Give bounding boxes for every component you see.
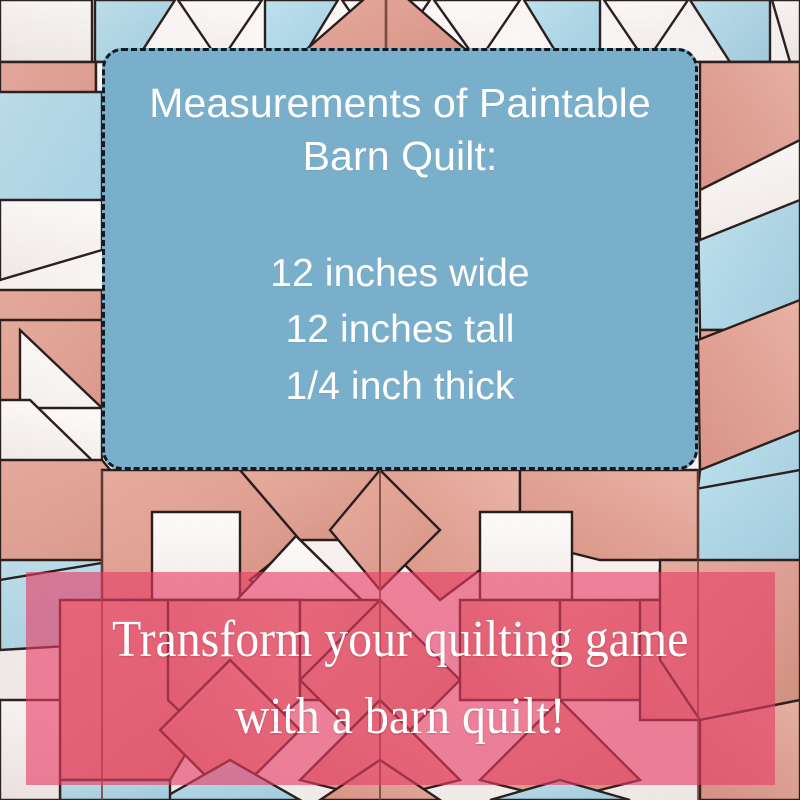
tagline-text: Transform your quilting game with a barn… (112, 602, 688, 756)
infographic-canvas: Measurements of Paintable Barn Quilt: 12… (0, 0, 800, 800)
info-card-title: Measurements of Paintable Barn Quilt: (133, 77, 667, 184)
measurement-thickness: 1/4 inch thick (133, 359, 667, 416)
measurements-list: 12 inches wide 12 inches tall 1/4 inch t… (133, 246, 667, 416)
measurements-info-card: Measurements of Paintable Barn Quilt: 12… (102, 48, 698, 470)
tagline-banner: Transform your quilting game with a barn… (26, 572, 775, 785)
measurement-width: 12 inches wide (133, 246, 667, 303)
measurement-height: 12 inches tall (133, 302, 667, 359)
